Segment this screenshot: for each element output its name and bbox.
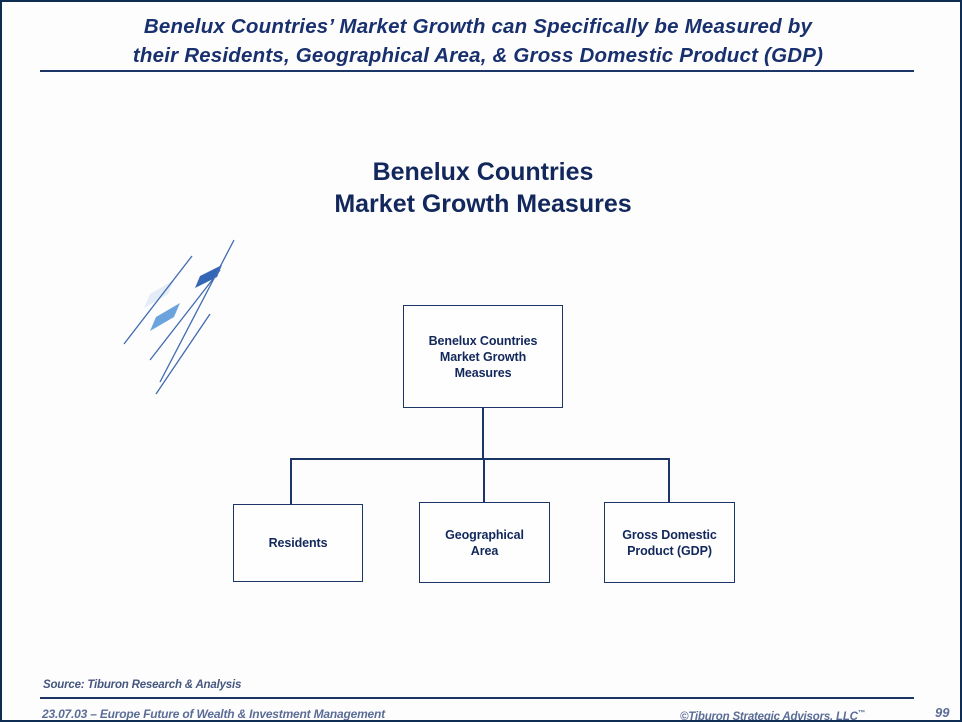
decorative-line-4	[156, 314, 210, 394]
page-title-line-2: Market Growth Measures	[2, 188, 962, 220]
connector-branch-residents	[290, 458, 292, 504]
diagram-node-gdp-label-2: Product (GDP)	[622, 543, 716, 559]
diagram-node-geographical-area-label-1: Geographical	[445, 527, 524, 543]
header-line-1: Benelux Countries’ Market Growth can Spe…	[40, 12, 916, 41]
decorative-parallelogram-light	[144, 280, 174, 308]
header-divider	[40, 70, 914, 72]
connector-branch-geographical-area	[483, 458, 485, 503]
diagram-node-root-label-2: Market Growth	[429, 349, 538, 365]
diagram-node-root-label-1: Benelux Countries	[429, 333, 538, 349]
footer-divider	[40, 697, 914, 699]
decorative-line-3	[160, 240, 234, 382]
decorative-parallelogram-mid	[150, 303, 180, 331]
header-line-2: their Residents, Geographical Area, & Gr…	[40, 41, 916, 70]
diagram-node-residents-label-1: Residents	[269, 535, 328, 551]
diagram-node-gdp-label-1: Gross Domestic	[622, 527, 716, 543]
connector-horizontal-bus	[290, 458, 670, 460]
footer-copyright: ©Tiburon Strategic Advisors, LLC™	[680, 708, 865, 722]
decorative-line-1	[124, 256, 192, 344]
connector-root-vertical	[482, 408, 484, 459]
decorative-parallelogram-dark	[195, 265, 222, 288]
slide: Benelux Countries’ Market Growth can Spe…	[0, 0, 962, 722]
footer-copyright-text: ©Tiburon Strategic Advisors, LLC	[680, 711, 858, 722]
decorative-diagonal-graphic	[112, 232, 247, 402]
diagram-node-geographical-area-label-2: Area	[445, 543, 524, 559]
diagram-node-root-label-3: Measures	[429, 365, 538, 381]
diagram-node-root[interactable]: Benelux Countries Market Growth Measures	[403, 305, 563, 408]
diagram-node-geographical-area[interactable]: Geographical Area	[419, 502, 550, 583]
source-note: Source: Tiburon Research & Analysis	[43, 679, 241, 691]
page-number: 99	[935, 705, 949, 720]
page-title: Benelux Countries Market Growth Measures	[2, 156, 962, 220]
slide-header: Benelux Countries’ Market Growth can Spe…	[40, 12, 916, 70]
connector-branch-gdp	[668, 458, 670, 503]
page-title-line-1: Benelux Countries	[2, 156, 962, 188]
decorative-line-2	[150, 270, 220, 360]
trademark-symbol: ™	[858, 708, 865, 717]
diagram-node-gross-domestic-product[interactable]: Gross Domestic Product (GDP)	[604, 502, 735, 583]
diagram-node-residents[interactable]: Residents	[233, 504, 363, 582]
footer-date-and-event: 23.07.03 – Europe Future of Wealth & Inv…	[42, 707, 385, 721]
